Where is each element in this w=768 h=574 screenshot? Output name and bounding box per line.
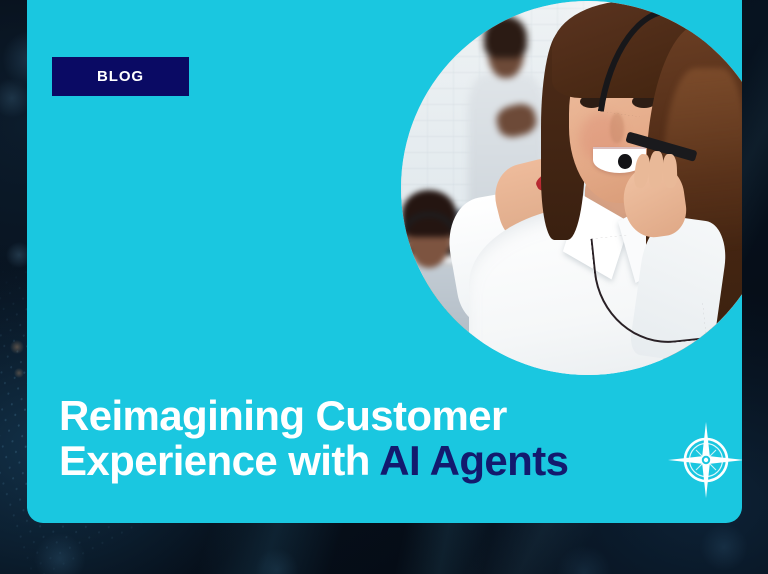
blog-badge: BLOG (52, 57, 189, 96)
agent-photo (401, 1, 742, 375)
compass-rose-logo (666, 420, 742, 500)
headline-line-1: Reimagining Customer (59, 392, 507, 439)
blog-promo-banner: BLOG (0, 0, 768, 574)
content-card: BLOG (27, 0, 742, 523)
headline-line-2-accent: AI Agents (379, 437, 568, 484)
headline-line-2-plain: Experience with (59, 437, 379, 484)
blog-badge-label: BLOG (97, 68, 144, 85)
page-title: Reimagining Customer Experience with AI … (59, 393, 659, 484)
foreground-agent (513, 1, 742, 375)
